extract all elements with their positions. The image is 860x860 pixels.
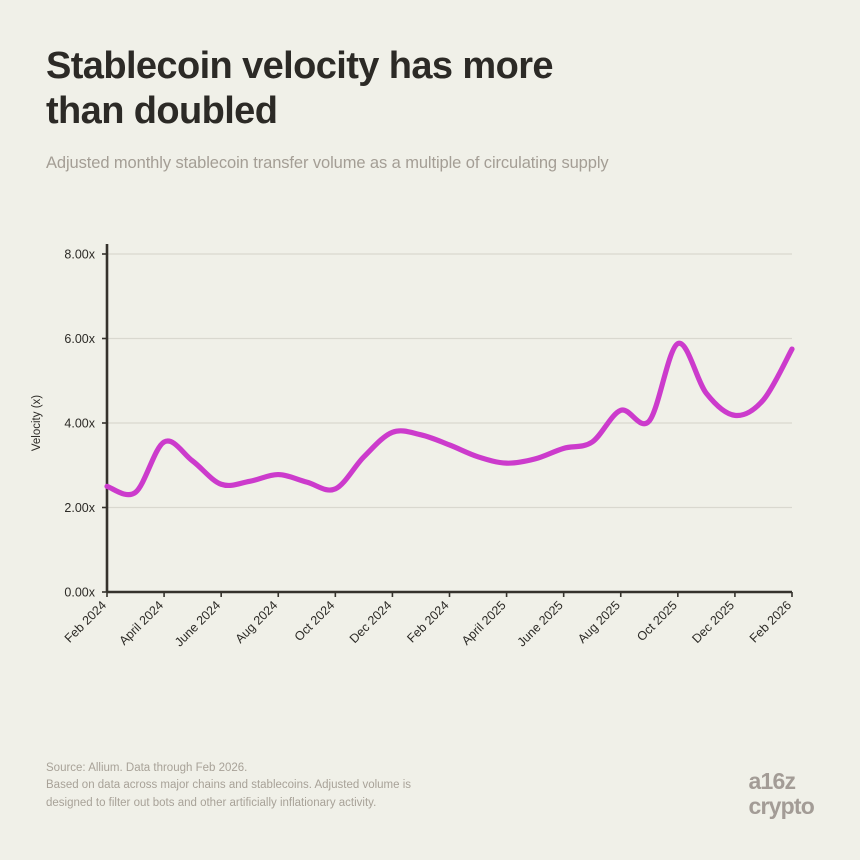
chart-figure: Stablecoin velocity has more than double… bbox=[0, 0, 860, 860]
y-tick-label: 4.00x bbox=[64, 417, 95, 431]
x-tick-label: Oct 2024 bbox=[292, 598, 338, 644]
x-tick-label: Aug 2024 bbox=[233, 598, 281, 646]
x-axis-tick-labels: Feb 2024April 2024June 2024Aug 2024Oct 2… bbox=[62, 598, 794, 649]
x-tick-label: April 2025 bbox=[459, 598, 509, 648]
data-series-group bbox=[107, 343, 792, 494]
y-axis-title-label: Velocity (x) bbox=[31, 395, 43, 451]
footer-source: Source: Allium. Data through Feb 2026. bbox=[46, 760, 566, 777]
x-tick-label: June 2025 bbox=[515, 598, 566, 649]
series-line-stablecoin-velocity bbox=[107, 343, 792, 494]
logo-line-crypto: crypto bbox=[749, 795, 815, 818]
y-tick-label: 6.00x bbox=[64, 332, 95, 346]
x-tick-label: June 2024 bbox=[172, 598, 223, 649]
y-axis-title: Velocity (x) bbox=[31, 395, 43, 451]
y-tick-label: 2.00x bbox=[64, 501, 95, 515]
x-tick-label: April 2024 bbox=[116, 598, 166, 648]
logo-line-a16z: a16z bbox=[749, 770, 815, 793]
a16z-crypto-logo: a16z crypto bbox=[749, 770, 815, 818]
x-tick-label: Dec 2024 bbox=[347, 598, 395, 646]
x-tick-label: Aug 2025 bbox=[575, 598, 623, 646]
x-tick-label: Feb 2024 bbox=[62, 598, 109, 645]
y-axis-tick-labels: 0.00x2.00x4.00x6.00x8.00x bbox=[64, 248, 95, 600]
footer-block: Source: Allium. Data through Feb 2026. B… bbox=[46, 760, 566, 812]
axis-spines bbox=[107, 244, 792, 592]
y-tick-label: 8.00x bbox=[64, 248, 95, 262]
line-chart-plot: 0.00x2.00x4.00x6.00x8.00x Feb 2024April … bbox=[0, 60, 860, 740]
x-tick-label: Feb 2026 bbox=[747, 598, 794, 645]
footer-note-line-1: Based on data across major chains and st… bbox=[46, 777, 566, 794]
gridlines-group bbox=[107, 254, 792, 508]
x-tick-label: Dec 2025 bbox=[689, 598, 737, 646]
footer-note-line-2: designed to filter out bots and other ar… bbox=[46, 795, 566, 812]
x-tick-label: Feb 2024 bbox=[404, 598, 451, 645]
x-tick-label: Oct 2025 bbox=[634, 598, 680, 644]
y-tick-label: 0.00x bbox=[64, 586, 95, 600]
